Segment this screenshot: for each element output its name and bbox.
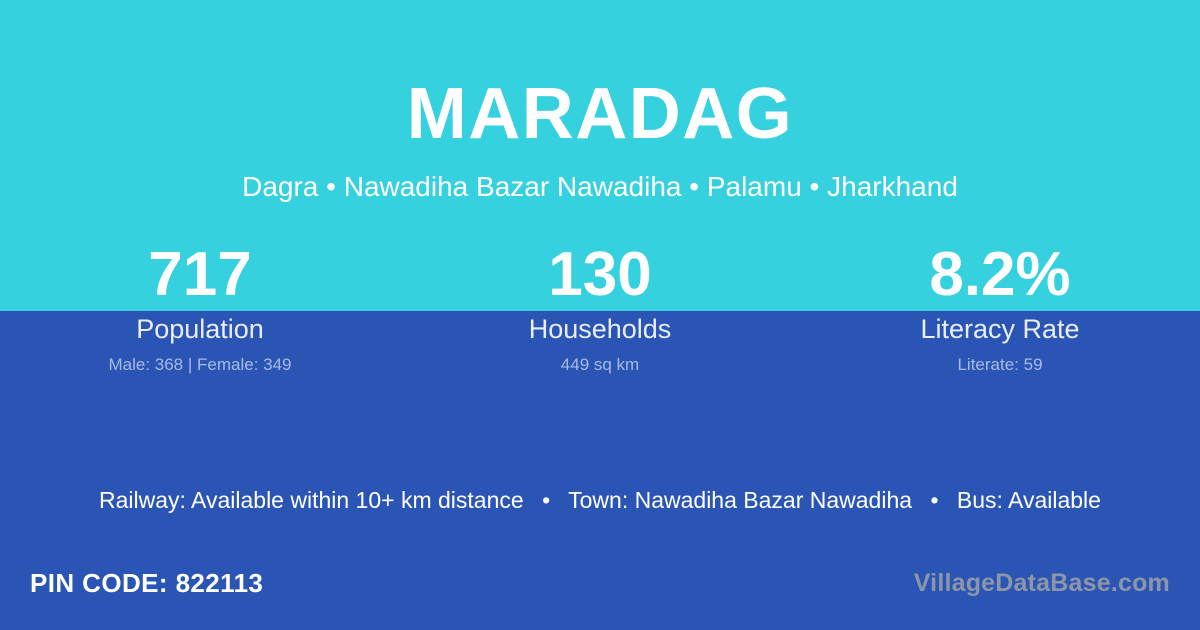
stat-population-value: 717	[148, 240, 251, 310]
amenity-town: Town: Nawadiha Bazar Nawadiha	[568, 487, 912, 513]
amenity-separator-icon: •	[530, 485, 562, 515]
site-branding: VillageDataBase.com	[914, 568, 1170, 598]
location-breadcrumb: Dagra • Nawadiha Bazar Nawadiha • Palamu…	[242, 172, 958, 203]
amenity-separator-icon: •	[918, 485, 950, 515]
pin-code: PIN CODE: 822113	[30, 568, 263, 598]
stat-population-label: Population	[136, 314, 264, 344]
village-info-card: MARADAG Dagra • Nawadiha Bazar Nawadiha …	[0, 0, 1200, 630]
amenity-railway: Railway: Available within 10+ km distanc…	[99, 487, 524, 513]
statistics-row: 717 Population Male: 368 | Female: 349 1…	[0, 240, 1200, 375]
amenity-bus: Bus: Available	[957, 487, 1101, 513]
stat-population-detail: Male: 368 | Female: 349	[108, 355, 291, 375]
stat-households: 130 Households 449 sq km	[400, 240, 800, 375]
card-header: MARADAG Dagra • Nawadiha Bazar Nawadiha …	[0, 0, 1200, 240]
stat-literacy-rate-value: 8.2%	[929, 240, 1070, 310]
stat-literacy-rate-label: Literacy Rate	[920, 314, 1079, 344]
stat-households-detail: 449 sq km	[561, 355, 639, 375]
village-name-title: MARADAG	[407, 78, 793, 150]
stat-literacy-rate: 8.2% Literacy Rate Literate: 59	[800, 240, 1200, 375]
stat-literacy-rate-detail: Literate: 59	[957, 355, 1042, 375]
card-footer: PIN CODE: 822113 VillageDataBase.com	[0, 550, 1200, 630]
stat-households-label: Households	[529, 314, 672, 344]
stat-population: 717 Population Male: 368 | Female: 349	[0, 240, 400, 375]
stat-households-value: 130	[548, 240, 651, 310]
amenities-line: Railway: Available within 10+ km distanc…	[0, 485, 1200, 515]
